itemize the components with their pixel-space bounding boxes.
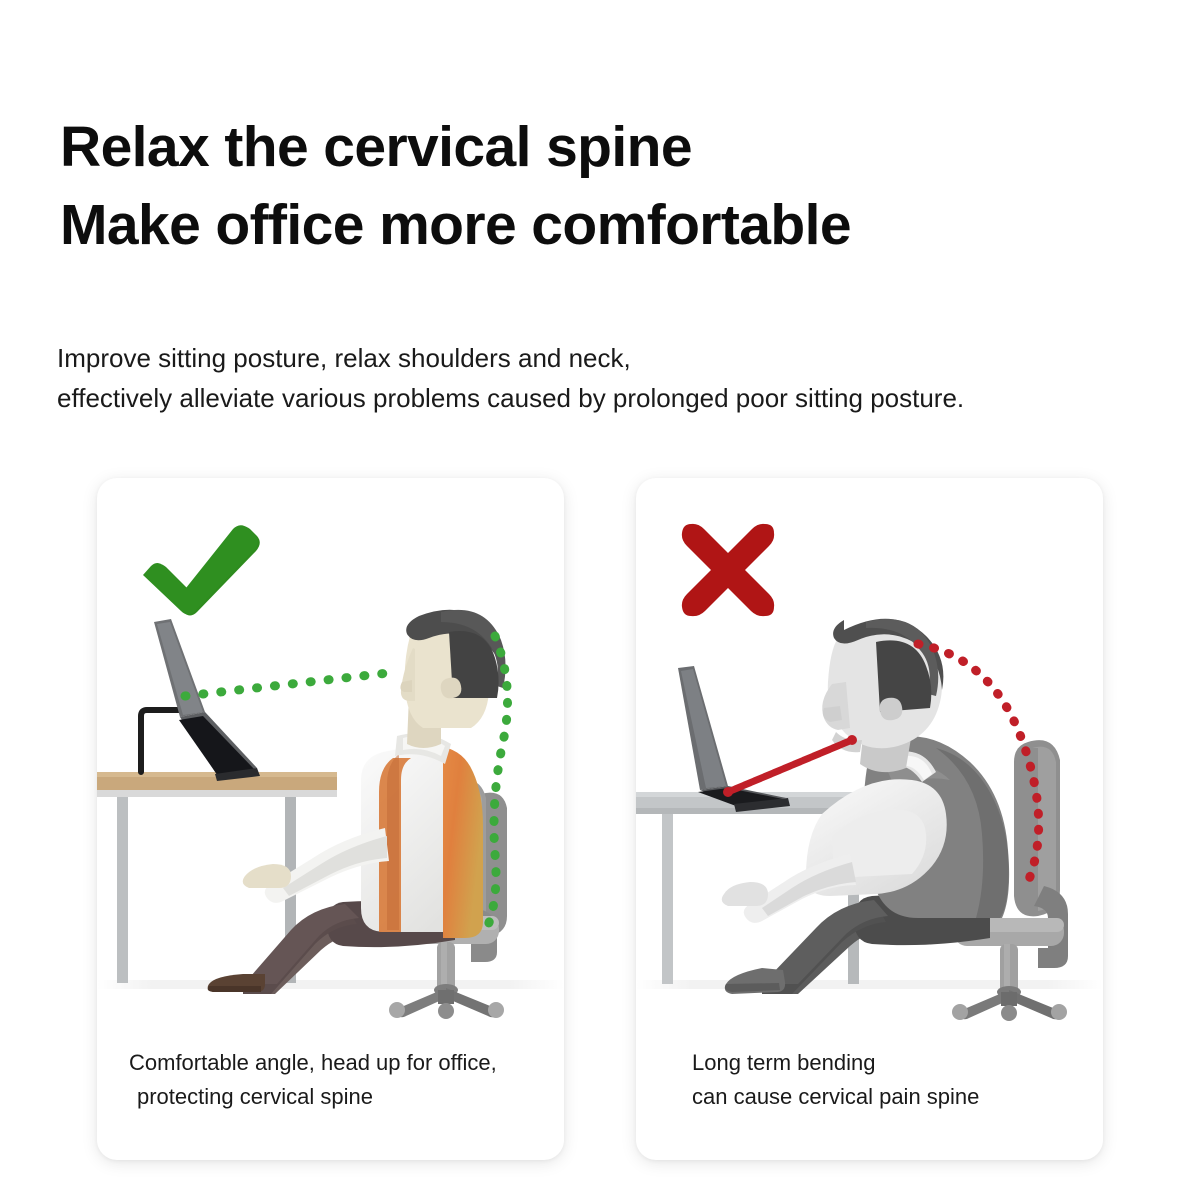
caster-left [952,1004,968,1020]
card-bad-posture[interactable]: Long term bending can cause cervical pai… [636,478,1103,1160]
check-icon [135,520,263,620]
person-good-posture [208,610,506,994]
card-good-posture[interactable]: Comfortable angle, head up for office, p… [97,478,564,1160]
caster-right [1051,1004,1067,1020]
cross-icon [678,520,778,620]
page-root: Relax the cervical spine Make office mor… [0,0,1200,1200]
caster-center [1001,1005,1017,1021]
sightline-guide-good [185,672,397,696]
caster-left [389,1002,405,1018]
headline-line-1: Relax the cervical spine [60,108,1140,186]
caption-line-2: can cause cervical pain spine [666,1080,1073,1114]
caster-center [438,1003,454,1019]
hand [722,882,768,906]
caption-line-1: Comfortable angle, head up for office, [127,1046,534,1080]
subtitle-line-2: effectively alleviate various problems c… [57,378,1167,418]
comparison-cards: Comfortable angle, head up for office, p… [0,478,1200,1164]
caster-right [488,1002,504,1018]
page-title: Relax the cervical spine Make office mor… [60,108,1140,264]
page-subtitle: Improve sitting posture, relax shoulders… [57,338,1167,418]
subtitle-line-1: Improve sitting posture, relax shoulders… [57,338,1167,378]
desk-leg-left [662,814,673,984]
desk-leg-left [117,797,128,983]
sightline-guide-bad [723,735,857,797]
floor-line [636,980,1103,989]
card-caption-good: Comfortable angle, head up for office, p… [97,1046,564,1114]
card-caption-bad: Long term bending can cause cervical pai… [636,1046,1103,1114]
caption-line-1: Long term bending [666,1046,1073,1080]
caption-line-2: protecting cervical spine [127,1080,534,1114]
headline-line-2: Make office more comfortable [60,186,1140,264]
bad-posture-illustration [636,586,1103,1048]
laptop [141,619,260,781]
good-posture-illustration [97,586,564,1048]
hand [243,864,291,888]
floor-line [97,980,564,989]
